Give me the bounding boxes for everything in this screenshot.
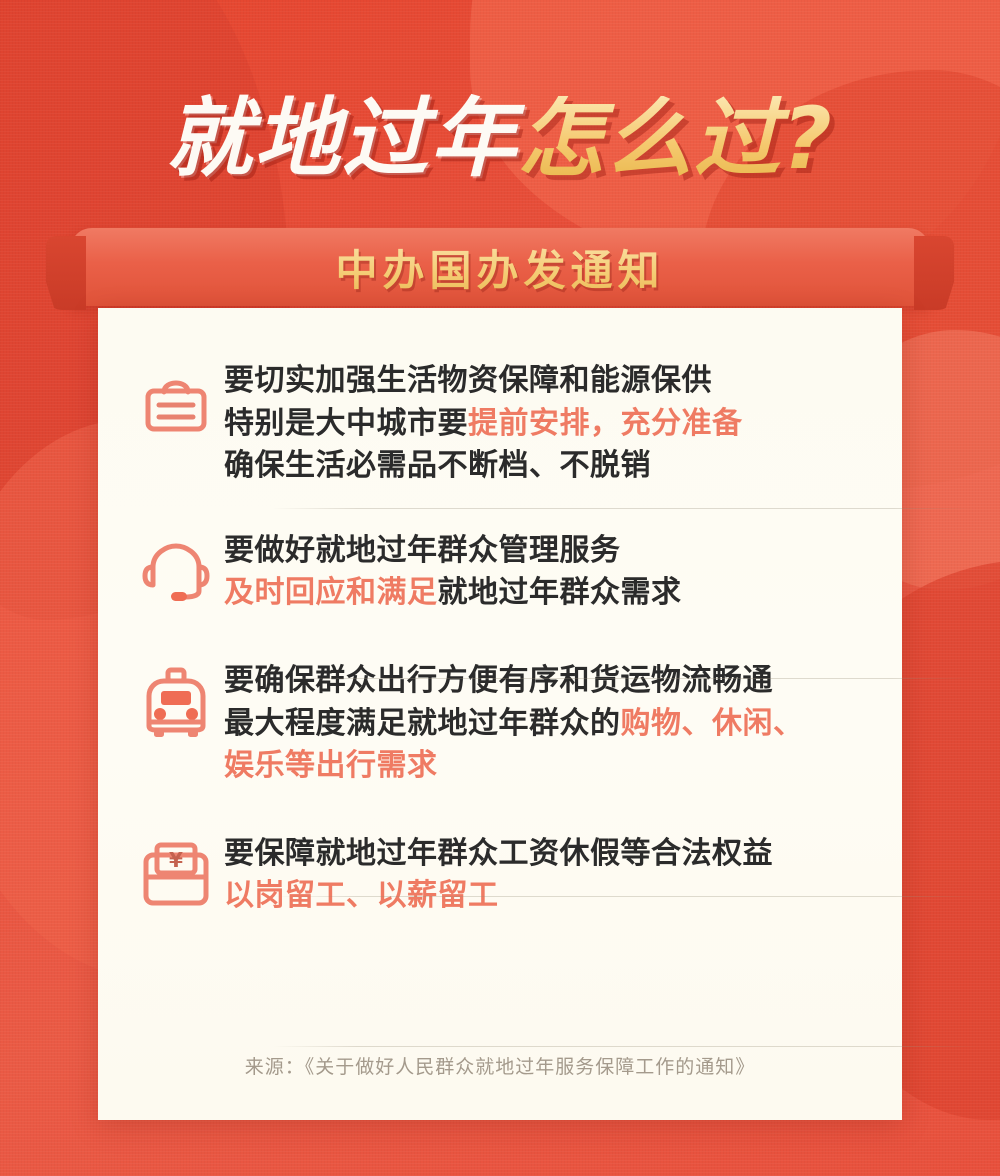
poster-root: 就地过年怎么过? 中办国办发通知 要切实加强生活物资保障和能源保供特别是大中城市… [0, 0, 1000, 1176]
text-line: 要做好就地过年群众管理服务 [224, 530, 874, 573]
text-line: 特别是大中城市要提前安排，充分准备 [224, 403, 874, 446]
item-divider-3 [273, 896, 978, 897]
notice-item-1: 要切实加强生活物资保障和能源保供特别是大中城市要提前安排，充分准备确保生活必需品… [98, 308, 902, 488]
text-line: 要切实加强生活物资保障和能源保供 [224, 360, 874, 403]
highlighted-run: 及时回应和满足 [224, 575, 438, 610]
plain-run: 就地过年群众需求 [438, 575, 682, 610]
text-line: 要保障就地过年群众工资休假等合法权益 [224, 833, 874, 876]
title-gold-segment: 怎么过? [518, 96, 834, 182]
plain-run: 要确保群众出行方便有序和货运物流畅通 [224, 663, 773, 698]
highlighted-run: 娱乐等出行需求 [224, 748, 438, 783]
plain-run: 特别是大中城市要 [224, 406, 468, 441]
notice-item-3-text: 要确保群众出行方便有序和货运物流畅通最大程度满足就地过年群众的购物、休闲、娱乐等… [224, 660, 874, 788]
title-white-segment: 就地过年 [166, 96, 518, 182]
text-line: 及时回应和满足就地过年群众需求 [224, 572, 874, 615]
plain-run: 最大程度满足就地过年群众的 [224, 706, 621, 741]
text-line: 最大程度满足就地过年群众的购物、休闲、 [224, 703, 874, 746]
item-divider-1 [273, 508, 978, 509]
notice-item-2: 要做好就地过年群众管理服务及时回应和满足就地过年群众需求 [98, 488, 902, 615]
highlighted-run: 提前安排，充分准备 [468, 406, 743, 441]
card-scalloped-edge [98, 1100, 902, 1122]
plain-run: 确保生活必需品不断档、不脱销 [224, 448, 651, 483]
notice-items-list: 要切实加强生活物资保障和能源保供特别是大中城市要提前安排，充分准备确保生活必需品… [98, 308, 902, 918]
notice-item-3: 要确保群众出行方便有序和货运物流畅通最大程度满足就地过年群众的购物、休闲、娱乐等… [98, 615, 902, 788]
source-line: 来源：《关于做好人民群众就地过年服务保障工作的通知》 [0, 1052, 1000, 1079]
notice-item-1-text: 要切实加强生活物资保障和能源保供特别是大中城市要提前安排，充分准备确保生活必需品… [224, 360, 874, 488]
headset-icon [128, 530, 224, 608]
text-line: 要确保群众出行方便有序和货运物流畅通 [224, 660, 874, 703]
notice-item-2-text: 要做好就地过年群众管理服务及时回应和满足就地过年群众需求 [224, 530, 874, 615]
notice-item-4-text: 要保障就地过年群众工资休假等合法权益以岗留工、以薪留工 [224, 833, 874, 918]
banner-label: 中办国办发通知 [70, 228, 930, 306]
text-line: 娱乐等出行需求 [224, 745, 874, 788]
text-line: 确保生活必需品不断档、不脱销 [224, 445, 874, 488]
item-divider-2 [273, 678, 978, 679]
highlighted-run: 购物、休闲、 [621, 706, 804, 741]
svg-text:¥: ¥ [169, 848, 183, 872]
wallet-yen-icon: ¥ [128, 833, 224, 913]
poster-title: 就地过年怎么过? [0, 96, 1000, 182]
item-divider-4 [273, 1046, 978, 1047]
taxi-icon [128, 660, 224, 742]
plain-run: 要保障就地过年群众工资休假等合法权益 [224, 836, 773, 871]
shopping-basket-icon [128, 360, 224, 438]
plain-run: 要做好就地过年群众管理服务 [224, 533, 621, 568]
plain-run: 要切实加强生活物资保障和能源保供 [224, 363, 712, 398]
content-card: 要切实加强生活物资保障和能源保供特别是大中城市要提前安排，充分准备确保生活必需品… [98, 308, 902, 1120]
notice-item-4: ¥ 要保障就地过年群众工资休假等合法权益以岗留工、以薪留工 [98, 788, 902, 918]
